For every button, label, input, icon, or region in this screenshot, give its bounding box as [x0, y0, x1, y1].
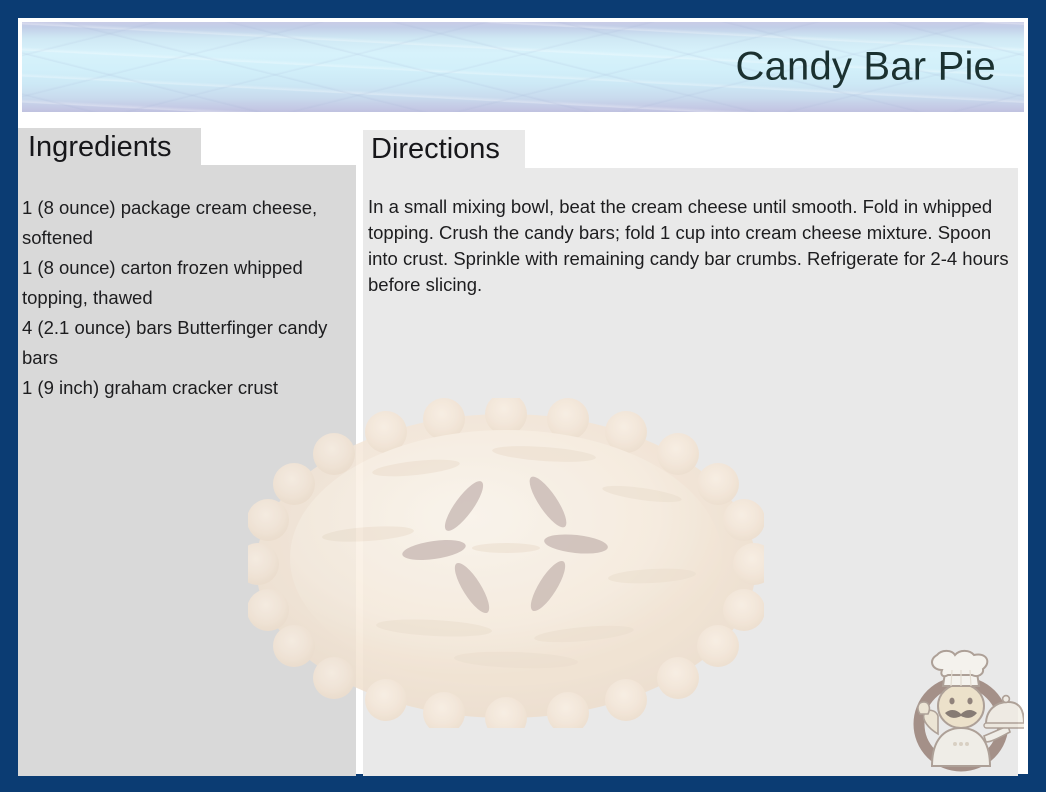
page-title: Candy Bar Pie	[735, 45, 996, 90]
directions-body: In a small mixing bowl, beat the cream c…	[368, 194, 1013, 298]
header-banner: Candy Bar Pie	[22, 22, 1024, 112]
directions-heading-label: Directions	[371, 135, 500, 164]
directions-section-header: Directions	[363, 130, 525, 169]
ingredients-heading-label: Ingredients	[28, 133, 172, 162]
recipe-card: Candy Bar Pie Ingredients Directions 1 (…	[0, 0, 1046, 792]
ingredients-list: 1 (8 ounce) package cream cheese, soften…	[22, 193, 354, 403]
ingredients-section-header: Ingredients	[18, 128, 201, 166]
